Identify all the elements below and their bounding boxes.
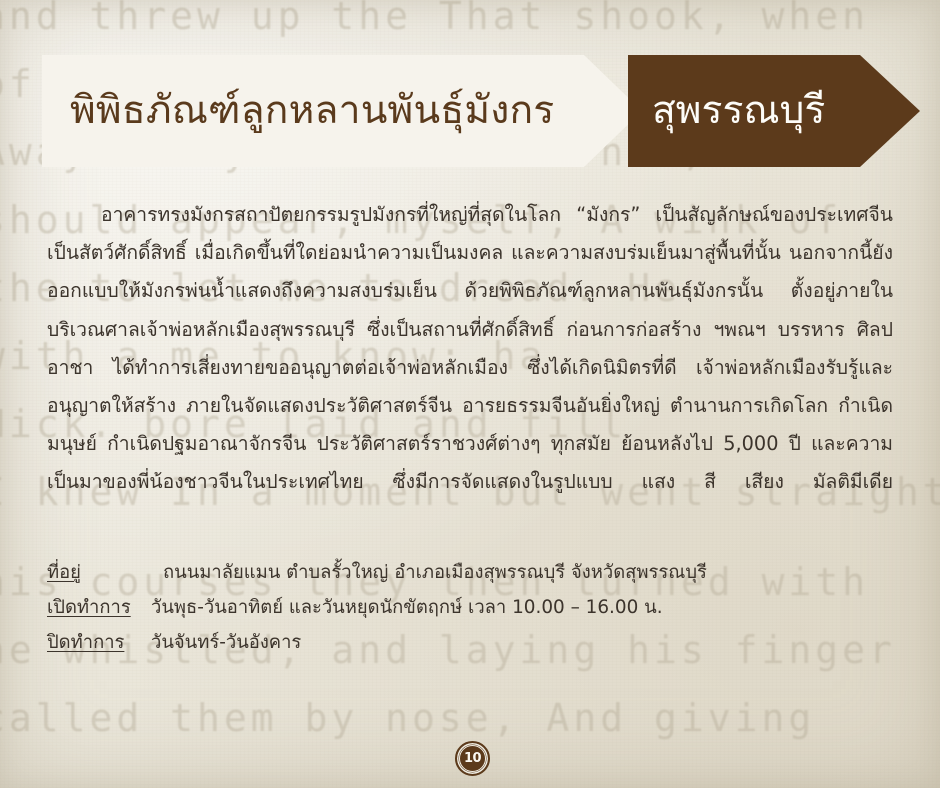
page-number-badge: 10 xyxy=(455,741,490,776)
info-value-address: ถนนมาลัยแมน ตำบลรั้วใหญ่ อำเภอเมืองสุพรร… xyxy=(151,559,907,587)
info-row-closed-days: ปิดทำการ วันจันทร์-วันอังคาร xyxy=(47,629,907,657)
ghost-text-line: called them by nose, And giving xyxy=(0,696,815,740)
info-value-opening-hours: วันพุธ-วันอาทิตย์ และวันหยุดนักขัตฤกษ์ เ… xyxy=(151,594,907,622)
info-label-opening-hours: เปิดทำการ xyxy=(47,594,151,622)
info-row-address: ที่อยู่ ถนนมาลัยแมน ตำบลรั้วใหญ่ อำเภอเม… xyxy=(47,559,907,587)
info-block: ที่อยู่ ถนนมาลัยแมน ตำบลรั้วใหญ่ อำเภอเม… xyxy=(47,559,907,664)
page-number-label: 10 xyxy=(459,745,486,772)
poster-page: and threw up the That shook, when of mid… xyxy=(0,0,940,788)
ghost-text-line: and threw up the That shook, when xyxy=(0,0,869,38)
info-row-opening-hours: เปิดทำการ วันพุธ-วันอาทิตย์ และวันหยุดนั… xyxy=(47,594,907,622)
header-banner: พิพิธภัณฑ์ลูกหลานพันธุ์มังกร สุพรรณบุรี xyxy=(0,55,940,167)
description-paragraph: อาคารทรงมังกรสถาปัตยกรรมรูปมังกรที่ใหญ่ท… xyxy=(47,196,893,540)
page-title: พิพิธภัณฑ์ลูกหลานพันธุ์มังกร xyxy=(70,55,600,167)
main-content: อาคารทรงมังกรสถาปัตยกรรมรูปมังกรที่ใหญ่ท… xyxy=(47,196,893,540)
info-label-closed-days: ปิดทำการ xyxy=(47,629,151,657)
info-label-address: ที่อยู่ xyxy=(47,559,151,587)
info-value-closed-days: วันจันทร์-วันอังคาร xyxy=(151,629,907,657)
page-subtitle-province: สุพรรณบุรี xyxy=(652,55,902,167)
